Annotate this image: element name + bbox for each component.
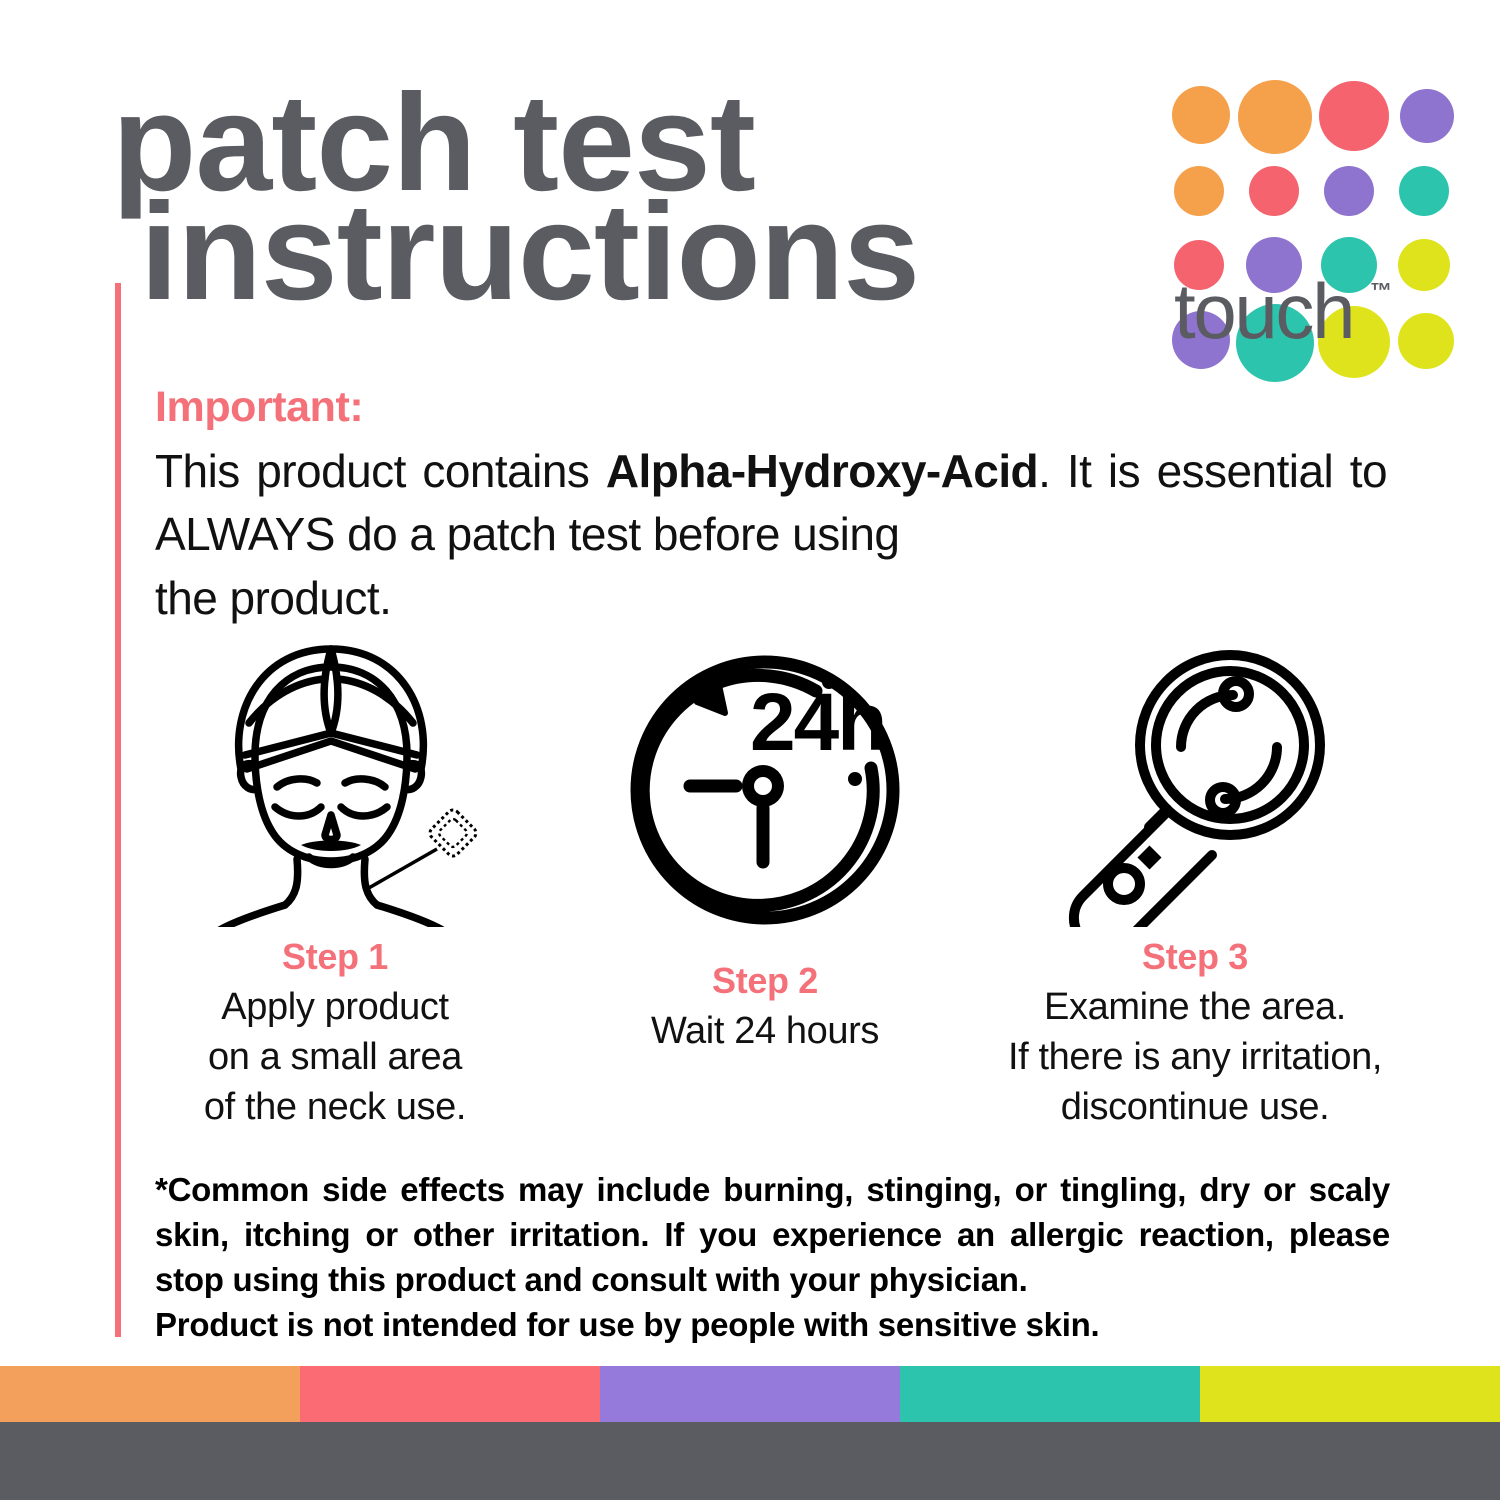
side-effects-footnote: *Common side effects may include burning… [155,1168,1390,1348]
svg-text:24h: 24h [750,677,885,768]
patch-test-instructions-page: patch test instructions touch ™ Importan… [0,0,1500,1500]
intro-last-line: the product. [155,567,1387,630]
brand-dot-6-icon [1249,166,1299,216]
step-1-description-line: Apply product [204,982,466,1032]
footer-bar-segment-4 [900,1366,1200,1422]
step-2-description: Wait 24 hours [651,1006,879,1056]
brand-dot-7-icon [1324,166,1374,216]
step-3-illustration [1045,632,1345,932]
footer-bar-segment-3 [600,1366,900,1422]
footnote-last-line: Product is not intended for use by peopl… [155,1303,1390,1348]
brand-dot-1-icon [1172,86,1230,144]
step-1: Step 1 Apply producton a small areaof th… [120,632,550,1132]
step-3-description: Examine the area.If there is any irritat… [1008,982,1382,1132]
clock-24h-icon: 24h [620,640,910,930]
magnifying-glass-icon [1045,637,1345,927]
intro-text-before-bold: This product contains [155,445,606,497]
intro-paragraph: This product contains Alpha-Hydroxy-Acid… [155,440,1387,630]
brand-dot-2-icon [1238,80,1312,154]
footer-bar-segment-1 [0,1366,300,1422]
footer-bar-segment-2 [300,1366,600,1422]
step-2-illustration: 24h [620,632,910,940]
footer-gray-bar [0,1422,1500,1500]
page-title-line-2: instructions [140,187,919,318]
brand-name: touch [1174,272,1353,350]
important-label: Important: [155,383,363,432]
step-1-label: Step 1 [282,936,388,978]
step-1-description: Apply producton a small areaof the neck … [204,982,466,1132]
step-3: Step 3 Examine the area.If there is any … [980,632,1410,1132]
step-1-description-line: on a small area [204,1032,466,1082]
brand-logo: touch ™ [1164,80,1424,370]
brand-dot-12-icon [1398,239,1450,291]
step-3-description-line: Examine the area. [1008,982,1382,1032]
trademark-symbol: ™ [1370,278,1392,304]
step-2-label: Step 2 [712,960,818,1002]
step-2: 24h Step 2 Wait 24 hours [550,632,980,1056]
steps-row: Step 1 Apply producton a small areaof th… [120,632,1410,1132]
footnote-body: *Common side effects may include burning… [155,1171,1390,1298]
step-1-illustration [185,632,485,932]
step-3-description-line: discontinue use. [1008,1082,1382,1132]
footer-bar-segment-5 [1200,1366,1500,1422]
intro-bold-ingredient: Alpha-Hydroxy-Acid [606,445,1038,497]
brand-dot-3-icon [1319,81,1389,151]
page-title: patch test instructions [112,78,919,318]
footer-color-bar [0,1366,1500,1422]
page-header: patch test instructions touch ™ [112,78,1412,368]
face-with-towel-patch-icon [185,637,485,927]
step-3-description-line: If there is any irritation, [1008,1032,1382,1082]
step-3-label: Step 3 [1142,936,1248,978]
brand-dot-4-icon [1400,89,1454,143]
brand-dot-16-icon [1398,313,1454,369]
step-1-description-line: of the neck use. [204,1082,466,1132]
brand-dot-grid-icon [1172,80,1382,270]
step-2-description-line: Wait 24 hours [651,1006,879,1056]
brand-dot-8-icon [1399,166,1449,216]
brand-dot-5-icon [1174,166,1224,216]
